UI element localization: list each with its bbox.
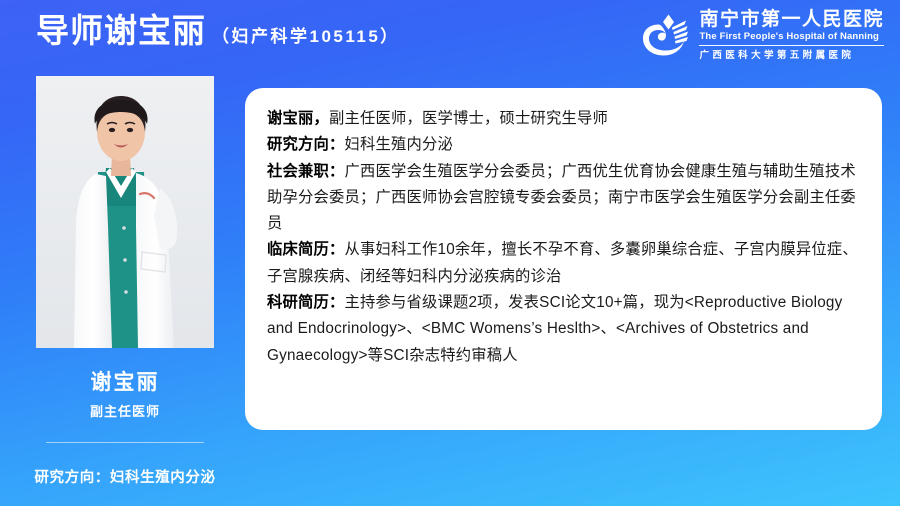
detail-intro-name: 谢宝丽， — [267, 110, 329, 127]
detail-social: 社会兼职：广西医学会生殖医学分会委员；广西优生优育协会健康生殖与辅助生殖技术助孕… — [267, 159, 860, 238]
detail-intro-text: 副主任医师，医学博士，硕士研究生导师 — [329, 110, 608, 127]
header-title-group: 导师谢宝丽 （妇产科学105115） — [36, 14, 400, 47]
sidebar-research-direction: 研究方向：妇科生殖内分泌 — [0, 466, 250, 487]
page-title: 导师谢宝丽 — [36, 14, 206, 47]
doctor-photo — [36, 76, 214, 348]
detail-social-label: 社会兼职： — [267, 163, 345, 180]
details-card: 谢宝丽，副主任医师，医学博士，硕士研究生导师 研究方向：妇科生殖内分泌 社会兼职… — [245, 88, 882, 430]
detail-clinical: 临床简历：从事妇科工作10余年，擅长不孕不育、多囊卵巢综合症、子宫内膜异位症、子… — [267, 237, 860, 290]
detail-research-text: 主持参与省级课题2项，发表SCI论文10+篇，现为<Reproductive B… — [267, 294, 842, 364]
profile-sidebar: 谢宝丽 副主任医师 研究方向：妇科生殖内分泌 — [0, 76, 250, 496]
detail-social-text: 广西医学会生殖医学分会委员；广西优生优育协会健康生殖与辅助生殖技术助孕分会委员；… — [267, 163, 856, 233]
detail-direction-label: 研究方向： — [267, 136, 345, 153]
doctor-portrait-image — [36, 76, 214, 348]
hospital-logo-text: 南宁市第一人民医院 The First People's Hospital of… — [699, 9, 884, 63]
page-subtitle-major-code: （妇产科学105115） — [212, 28, 400, 45]
doctor-name: 谢宝丽 — [0, 366, 250, 396]
detail-clinical-label: 临床简历： — [267, 241, 345, 258]
hospital-name-cn: 南宁市第一人民医院 — [699, 9, 884, 31]
detail-research-label: 科研简历： — [267, 294, 345, 311]
detail-clinical-text: 从事妇科工作10余年，擅长不孕不育、多囊卵巢综合症、子宫内膜异位症、子宫腺疾病、… — [267, 241, 858, 284]
doctor-rank: 副主任医师 — [0, 401, 250, 420]
hospital-affiliation-cn: 广西医科大学第五附属医院 — [699, 49, 884, 63]
slide-root: 导师谢宝丽 （妇产科学105115） 南宁市第一人民医院 The First P… — [0, 0, 900, 506]
detail-intro: 谢宝丽，副主任医师，医学博士，硕士研究生导师 — [267, 106, 860, 132]
sidebar-divider — [46, 442, 204, 443]
hospital-name-en: The First People's Hospital of Nanning — [699, 31, 884, 46]
detail-direction: 研究方向：妇科生殖内分泌 — [267, 132, 860, 158]
header-bar: 导师谢宝丽 （妇产科学105115） 南宁市第一人民医院 The First P… — [0, 0, 900, 78]
hospital-swoosh-logo-icon — [638, 11, 690, 61]
detail-direction-text: 妇科生殖内分泌 — [345, 136, 453, 153]
details-card-body: 谢宝丽，副主任医师，医学博士，硕士研究生导师 研究方向：妇科生殖内分泌 社会兼职… — [245, 88, 882, 379]
detail-research: 科研简历：主持参与省级课题2项，发表SCI论文10+篇，现为<Reproduct… — [267, 290, 860, 369]
hospital-logo: 南宁市第一人民医院 The First People's Hospital of… — [638, 9, 884, 63]
